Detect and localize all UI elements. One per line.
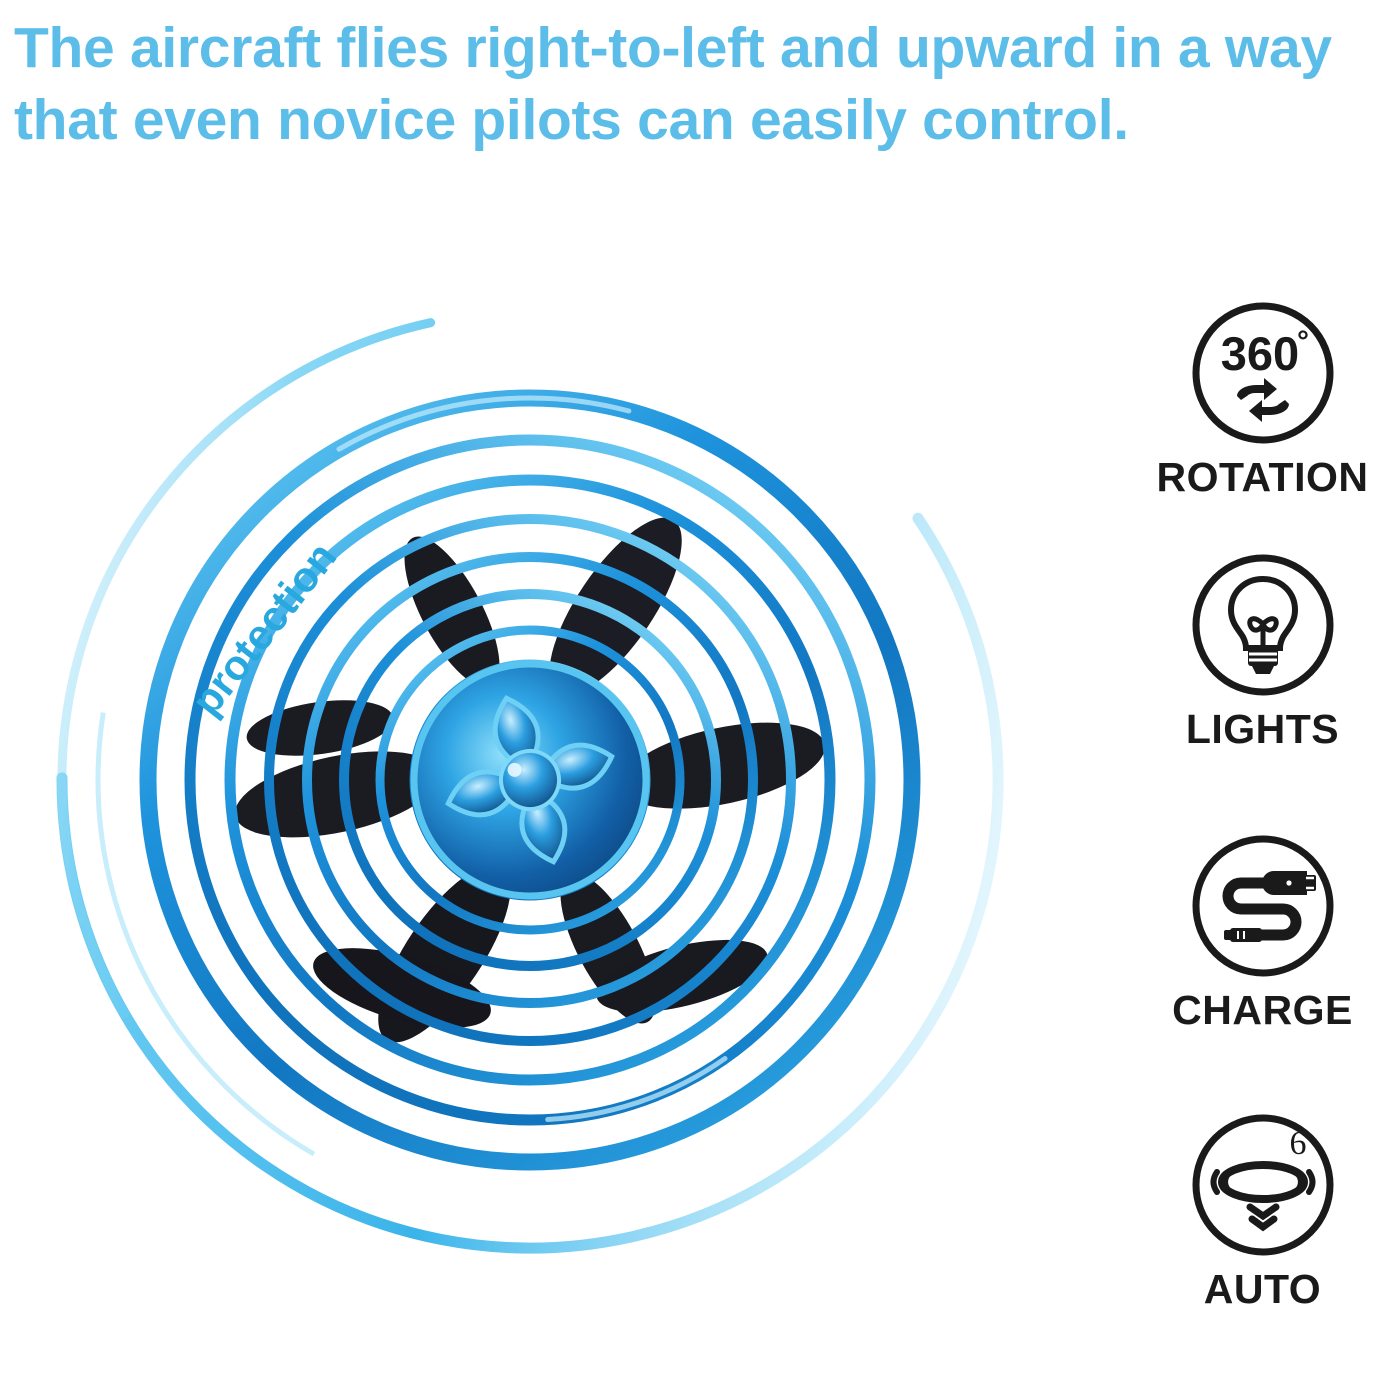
product-feature-infographic: The aircraft flies right-to-left and upw… <box>0 0 1375 1375</box>
motor-hub <box>387 637 674 924</box>
feature-list: 360 ° ROTATION LIG <box>1150 300 1375 1355</box>
feature-label-charge: CHARGE <box>1150 987 1375 1033</box>
feature-item-auto: 6 AUTO <box>1150 1112 1375 1312</box>
product-image: protection 360° <box>30 225 1110 1365</box>
auto-icon-value: 6 <box>1289 1125 1306 1162</box>
usb-charging-cable-icon <box>1190 833 1336 979</box>
page-title: The aircraft flies right-to-left and upw… <box>14 12 1374 156</box>
micro-usb-connector <box>1224 928 1262 942</box>
feature-label-rotation: ROTATION <box>1150 454 1375 500</box>
feature-item-lights: LIGHTS <box>1150 552 1375 752</box>
light-bulb-icon <box>1190 552 1336 698</box>
rotation-arrows <box>1237 378 1289 422</box>
360-icon-value: 360 <box>1220 327 1298 380</box>
360-rotation-icon: 360 ° <box>1190 300 1336 446</box>
degree-symbol: ° <box>1297 325 1309 358</box>
downward-waves <box>1250 1207 1276 1227</box>
feature-label-lights: LIGHTS <box>1150 706 1375 752</box>
feature-label-auto: AUTO <box>1150 1266 1375 1312</box>
feature-item-charge: CHARGE <box>1150 833 1375 1033</box>
feature-item-rotation: 360 ° ROTATION <box>1150 300 1375 500</box>
auto-hover-sensor-icon: 6 <box>1190 1112 1336 1258</box>
usb-a-connector <box>1262 871 1316 895</box>
